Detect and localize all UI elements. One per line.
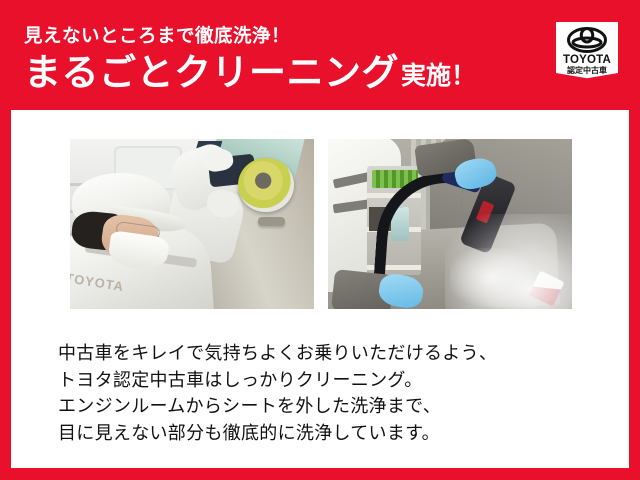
photo-row: TOYOTA [70, 139, 572, 309]
header-kicker: 見えないところまで徹底洗浄！ [24, 25, 524, 47]
promo-poster: 見えないところまで徹底洗浄！ まるごとクリーニング 実施！ TOYOTA 認定中… [0, 0, 640, 480]
body-copy-line-4: 目に見えない部分も徹底的に洗浄しています。 [58, 420, 598, 447]
logo-wordmark: TOYOTA [556, 54, 618, 66]
photo-steam-cleaning-seat [328, 139, 572, 309]
headline-row: まるごとクリーニング 実施！ [24, 52, 524, 93]
headline-block: 見えないところまで徹底洗浄！ まるごとクリーニング 実施！ [24, 25, 524, 93]
car-door-handle [258, 217, 285, 226]
body-copy-line-1: 中古車をキレイで気持ちよくお乗りいただけるよう、 [58, 340, 598, 367]
photo-polishing-car: TOYOTA [70, 139, 314, 309]
body-copy-line-2: トヨタ認定中古車はしっかりクリーニング。 [58, 367, 598, 394]
body-copy-line-3: エンジンルームからシートを外した洗浄まで、 [58, 393, 598, 420]
poster-header: 見えないところまで徹底洗浄！ まるごとクリーニング 実施！ TOYOTA 認定中… [0, 0, 640, 110]
headline-main: まるごとクリーニング [24, 52, 399, 93]
headline-suffix: 実施！ [401, 61, 476, 93]
toyota-ellipse-emblem-icon [567, 26, 607, 54]
logo-jp-label: 認定中古車 [556, 66, 618, 75]
body-copy: 中古車をキレイで気持ちよくお乗りいただけるよう、 トヨタ認定中古車はしっかりクリ… [58, 340, 598, 446]
poster-card: TOYOTA [11, 110, 629, 468]
toyota-certified-used-car-logo: TOYOTA 認定中古車 [556, 22, 618, 84]
steam-plume-secondary [450, 248, 533, 306]
